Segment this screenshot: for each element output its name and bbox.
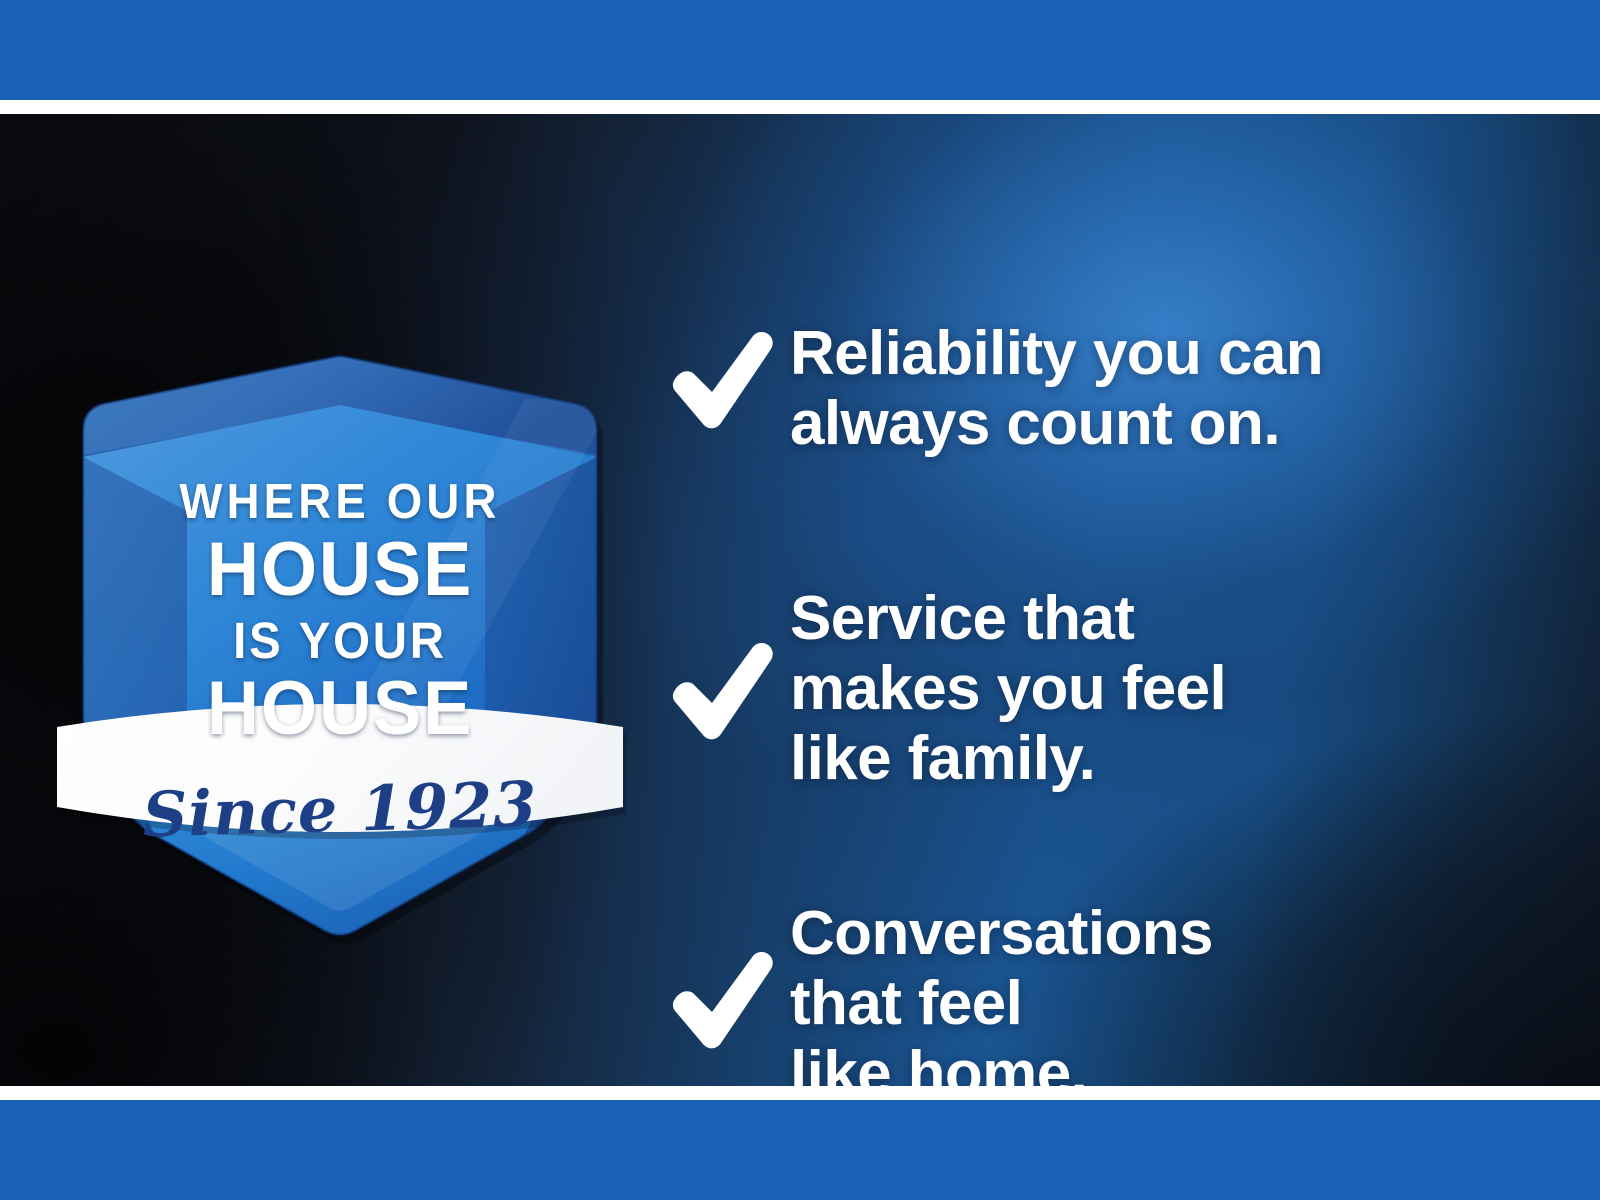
list-item-line: Service that — [790, 584, 1226, 654]
shield-emblem: Where Our House Is Your House Since 1923 — [55, 279, 625, 939]
bottom-brand-bar — [0, 1100, 1600, 1200]
list-item: Service that makes you feel like family. — [668, 584, 1226, 794]
checkmark-icon — [668, 899, 790, 1055]
checkmark-icon — [668, 584, 790, 746]
list-item-line: that feel — [790, 969, 1213, 1039]
shield-line-house-1: House — [69, 532, 611, 608]
list-item-text: Conversations that feel like home. — [790, 899, 1213, 1086]
list-item-text: Reliability you can always count on. — [790, 319, 1323, 459]
list-item-line: like home. — [790, 1039, 1213, 1086]
main-stage: Where Our House Is Your House Since 1923… — [0, 114, 1600, 1086]
list-item-text: Service that makes you feel like family. — [790, 584, 1226, 794]
grain-texture-overlay — [0, 114, 280, 244]
checkmark-glyph — [668, 642, 776, 746]
checkmark-icon — [668, 319, 790, 435]
list-item: Conversations that feel like home. — [668, 899, 1213, 1086]
list-item-line: makes you feel — [790, 654, 1226, 724]
list-item-line: always count on. — [790, 389, 1323, 459]
checkmark-glyph — [668, 951, 776, 1055]
top-brand-bar — [0, 0, 1600, 100]
promo-graphic-canvas: Where Our House Is Your House Since 1923… — [0, 0, 1600, 1200]
shield-line-house-2: House — [69, 671, 611, 747]
shield-line-where-our: Where Our — [75, 478, 605, 527]
checkmark-glyph — [668, 331, 776, 435]
list-item: Reliability you can always count on. — [668, 319, 1323, 459]
list-item-line: Reliability you can — [790, 319, 1323, 389]
list-item-line: like family. — [790, 724, 1226, 794]
shield-line-is-your: Is Your — [75, 615, 605, 666]
list-item-line: Conversations — [790, 899, 1213, 969]
